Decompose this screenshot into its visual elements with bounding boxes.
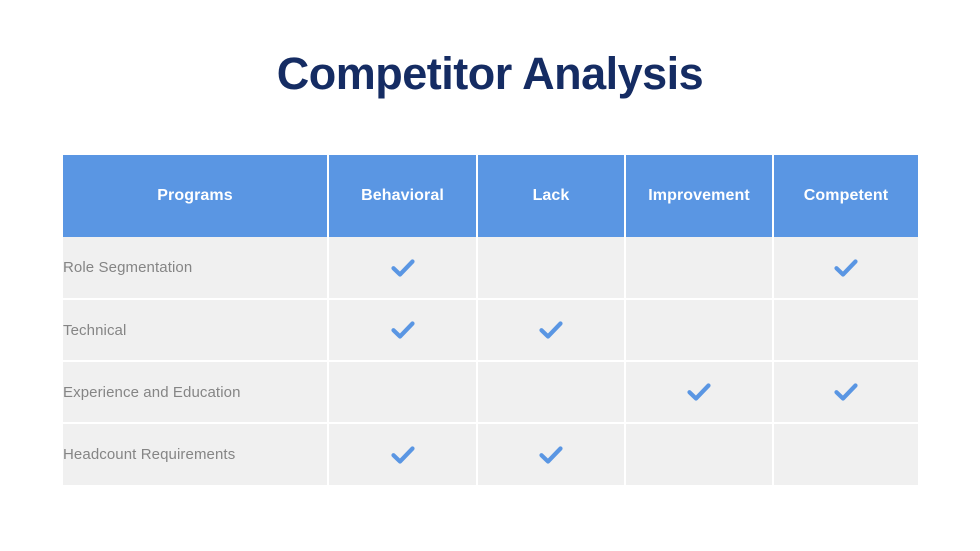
cell-behavioral[interactable] — [328, 237, 477, 299]
check-icon — [388, 315, 418, 345]
table-row: Experience and Education — [63, 361, 918, 423]
empty-cell-marker — [831, 313, 861, 343]
cell-improvement[interactable] — [625, 361, 773, 423]
slide-canvas: Competitor Analysis Programs Behavioral … — [0, 0, 980, 551]
empty-cell-marker — [831, 437, 861, 467]
check-icon — [388, 440, 418, 470]
table-header-row: Programs Behavioral Lack Improvement Com… — [63, 155, 918, 237]
empty-cell-marker — [684, 250, 714, 280]
column-header-programs[interactable]: Programs — [63, 155, 328, 237]
cell-behavioral[interactable] — [328, 361, 477, 423]
row-label-programs: Role Segmentation — [63, 237, 328, 299]
competitor-analysis-table: Programs Behavioral Lack Improvement Com… — [63, 155, 918, 485]
empty-cell-marker — [684, 437, 714, 467]
empty-cell-marker — [536, 250, 566, 280]
cell-improvement[interactable] — [625, 237, 773, 299]
column-header-behavioral[interactable]: Behavioral — [328, 155, 477, 237]
cell-improvement[interactable] — [625, 423, 773, 485]
cell-competent[interactable] — [773, 237, 918, 299]
check-icon — [831, 377, 861, 407]
check-icon — [388, 253, 418, 283]
cell-behavioral[interactable] — [328, 423, 477, 485]
empty-cell-marker — [536, 375, 566, 405]
column-header-competent[interactable]: Competent — [773, 155, 918, 237]
table-row: Technical — [63, 299, 918, 361]
row-label-programs: Experience and Education — [63, 361, 328, 423]
check-icon — [536, 440, 566, 470]
check-icon — [831, 253, 861, 283]
empty-cell-marker — [684, 313, 714, 343]
check-icon — [536, 315, 566, 345]
cell-improvement[interactable] — [625, 299, 773, 361]
cell-lack[interactable] — [477, 423, 625, 485]
cell-lack[interactable] — [477, 361, 625, 423]
column-header-improvement[interactable]: Improvement — [625, 155, 773, 237]
cell-lack[interactable] — [477, 299, 625, 361]
cell-behavioral[interactable] — [328, 299, 477, 361]
cell-competent[interactable] — [773, 299, 918, 361]
column-header-lack[interactable]: Lack — [477, 155, 625, 237]
check-icon — [684, 377, 714, 407]
page-title: Competitor Analysis — [0, 48, 980, 100]
row-label-programs: Headcount Requirements — [63, 423, 328, 485]
cell-lack[interactable] — [477, 237, 625, 299]
table-header: Programs Behavioral Lack Improvement Com… — [63, 155, 918, 237]
table-body: Role SegmentationTechnicalExperience and… — [63, 237, 918, 485]
cell-competent[interactable] — [773, 361, 918, 423]
empty-cell-marker — [388, 375, 418, 405]
row-label-programs: Technical — [63, 299, 328, 361]
table-row: Role Segmentation — [63, 237, 918, 299]
table-row: Headcount Requirements — [63, 423, 918, 485]
cell-competent[interactable] — [773, 423, 918, 485]
